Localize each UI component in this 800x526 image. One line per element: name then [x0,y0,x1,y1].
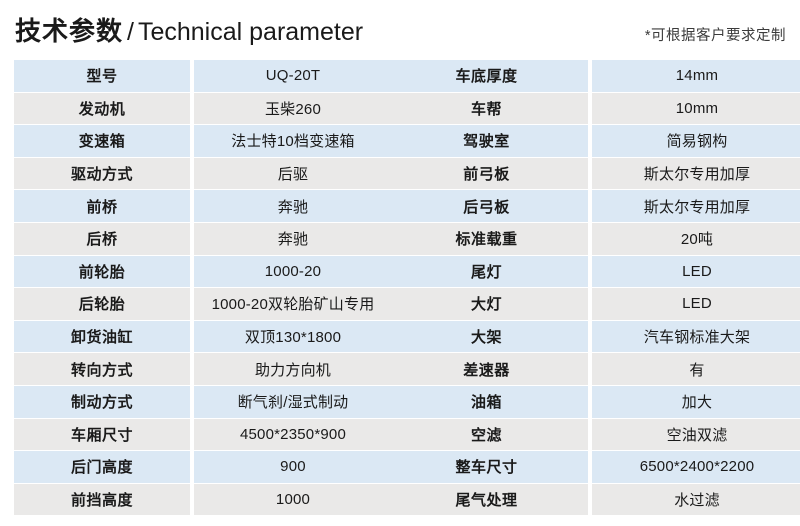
spec-label-cell: 车帮 [385,93,592,126]
spec-value-cell: 汽车钢标准大架 [592,321,800,354]
spec-label-cell: 后轮胎 [14,288,194,321]
spec-value-cell: 助力方向机 [194,353,392,386]
table-row: 前挡高度1000 [14,484,392,516]
table-row: 前轮胎1000-20 [14,256,392,289]
page-title: 技术参数/Technical parameter [15,15,363,52]
spec-value-cell: 900 [194,451,392,484]
spec-label-cell: 大灯 [385,288,592,321]
spec-label-cell: 转向方式 [14,353,194,386]
spec-label-cell: 空滤 [385,419,592,452]
spec-label-cell: 油箱 [385,386,592,419]
table-row: 车底厚度14mm [385,60,800,93]
table-row: 尾气处理水过滤 [385,484,800,516]
spec-value-cell: 水过滤 [592,484,800,516]
table-row: 大灯LED [385,288,800,321]
spec-sheet-page: 技术参数/Technical parameter *可根据客户要求定制 型号UQ… [0,0,800,526]
table-row: 差速器有 [385,353,800,386]
spec-value-cell: 有 [592,353,800,386]
spec-label-cell: 前挡高度 [14,484,194,516]
table-row: 后门高度900 [14,451,392,484]
spec-value-cell: 20吨 [592,223,800,256]
spec-value-cell: 奔驰 [194,190,392,223]
table-row: 变速箱法士特10档变速箱 [14,125,392,158]
spec-label-cell: 型号 [14,60,194,93]
spec-value-cell: 4500*2350*900 [194,419,392,452]
spec-label-cell: 后门高度 [14,451,194,484]
table-row: 整车尺寸6500*2400*2200 [385,451,800,484]
spec-value-cell: LED [592,288,800,321]
spec-label-cell: 标准载重 [385,223,592,256]
table-row: 后桥奔驰 [14,223,392,256]
spec-value-cell: 1000-20 [194,256,392,289]
spec-table-left-body: 型号UQ-20T发动机玉柴260变速箱法士特10档变速箱驱动方式后驱前桥奔驰后桥… [14,60,392,515]
spec-label-cell: 尾灯 [385,256,592,289]
table-row: 车厢尺寸4500*2350*900 [14,419,392,452]
spec-label-cell: 前轮胎 [14,256,194,289]
table-row: 尾灯LED [385,256,800,289]
spec-table-left: 型号UQ-20T发动机玉柴260变速箱法士特10档变速箱驱动方式后驱前桥奔驰后桥… [14,60,392,515]
table-row: 标准载重20吨 [385,223,800,256]
table-row: 车帮10mm [385,93,800,126]
spec-label-cell: 前弓板 [385,158,592,191]
table-row: 后弓板斯太尔专用加厚 [385,190,800,223]
spec-value-cell: 玉柴260 [194,93,392,126]
table-row: 转向方式助力方向机 [14,353,392,386]
spec-value-cell: 斯太尔专用加厚 [592,190,800,223]
spec-label-cell: 驾驶室 [385,125,592,158]
spec-label-cell: 差速器 [385,353,592,386]
spec-value-cell: UQ-20T [194,60,392,93]
spec-label-cell: 卸货油缸 [14,321,194,354]
table-row: 驱动方式后驱 [14,158,392,191]
customization-note: *可根据客户要求定制 [645,24,786,45]
spec-value-cell: 断气刹/湿式制动 [194,386,392,419]
spec-value-cell: 双顶130*1800 [194,321,392,354]
table-row: 油箱加大 [385,386,800,419]
table-row: 大架汽车钢标准大架 [385,321,800,354]
spec-label-cell: 尾气处理 [385,484,592,516]
spec-value-cell: 法士特10档变速箱 [194,125,392,158]
spec-label-cell: 后桥 [14,223,194,256]
spec-label-cell: 车厢尺寸 [14,419,194,452]
spec-value-cell: 1000-20双轮胎矿山专用 [194,288,392,321]
page-title-chinese: 技术参数 [15,16,123,46]
page-header: 技术参数/Technical parameter *可根据客户要求定制 [0,0,800,60]
spec-label-cell: 整车尺寸 [385,451,592,484]
table-row: 空滤空油双滤 [385,419,800,452]
table-row: 驾驶室简易钢构 [385,125,800,158]
spec-label-cell: 车底厚度 [385,60,592,93]
page-title-english: Technical parameter [138,18,363,46]
table-row: 发动机玉柴260 [14,93,392,126]
spec-value-cell: 后驱 [194,158,392,191]
spec-value-cell: LED [592,256,800,289]
table-row: 型号UQ-20T [14,60,392,93]
spec-table-right: 车底厚度14mm车帮10mm驾驶室简易钢构前弓板斯太尔专用加厚后弓板斯太尔专用加… [385,60,800,515]
spec-value-cell: 加大 [592,386,800,419]
table-row: 卸货油缸双顶130*1800 [14,321,392,354]
spec-label-cell: 变速箱 [14,125,194,158]
spec-label-cell: 后弓板 [385,190,592,223]
spec-label-cell: 制动方式 [14,386,194,419]
table-row: 前弓板斯太尔专用加厚 [385,158,800,191]
spec-tables-container: 型号UQ-20T发动机玉柴260变速箱法士特10档变速箱驱动方式后驱前桥奔驰后桥… [0,60,800,506]
spec-value-cell: 简易钢构 [592,125,800,158]
spec-label-cell: 驱动方式 [14,158,194,191]
spec-label-cell: 大架 [385,321,592,354]
page-title-separator: / [123,18,138,46]
spec-value-cell: 1000 [194,484,392,516]
table-row: 制动方式断气刹/湿式制动 [14,386,392,419]
spec-value-cell: 奔驰 [194,223,392,256]
table-row: 前桥奔驰 [14,190,392,223]
spec-value-cell: 14mm [592,60,800,93]
spec-value-cell: 10mm [592,93,800,126]
table-row: 后轮胎1000-20双轮胎矿山专用 [14,288,392,321]
spec-value-cell: 斯太尔专用加厚 [592,158,800,191]
spec-table-right-body: 车底厚度14mm车帮10mm驾驶室简易钢构前弓板斯太尔专用加厚后弓板斯太尔专用加… [385,60,800,515]
spec-label-cell: 发动机 [14,93,194,126]
spec-value-cell: 空油双滤 [592,419,800,452]
spec-value-cell: 6500*2400*2200 [592,451,800,484]
spec-label-cell: 前桥 [14,190,194,223]
